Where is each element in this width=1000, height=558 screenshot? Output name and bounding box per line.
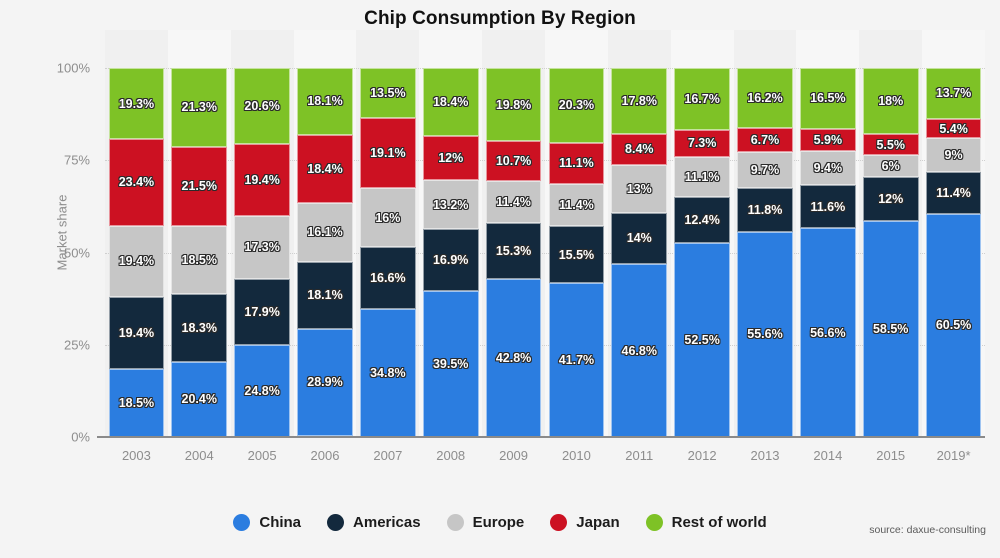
legend-label: Americas [353, 514, 421, 531]
legend-item-europe[interactable]: Europe [447, 514, 525, 531]
segment-value-label: 21.3% [182, 100, 217, 114]
x-axis-tick: 2005 [231, 448, 294, 463]
bar-stack[interactable]: 21.3%21.5%18.5%18.3%20.4% [171, 68, 227, 437]
bar-segment-europe[interactable]: 9.7% [737, 152, 793, 188]
segment-value-label: 60.5% [936, 318, 971, 332]
segment-value-label: 8.4% [625, 142, 654, 156]
x-axis-tick: 2013 [734, 448, 797, 463]
bar-segment-europe[interactable]: 9.4% [800, 151, 856, 186]
segment-value-label: 18.5% [182, 253, 217, 267]
bar-segment-europe[interactable]: 17.3% [234, 216, 290, 280]
legend-item-japan[interactable]: Japan [550, 514, 619, 531]
bar-stack[interactable]: 18.4%12%13.2%16.9%39.5% [423, 68, 479, 437]
bar-segment-americas[interactable]: 11.4% [926, 172, 982, 214]
bar-segment-americas[interactable]: 16.9% [423, 229, 479, 291]
segment-value-label: 13.5% [370, 86, 405, 100]
segment-value-label: 11.8% [748, 203, 783, 217]
bar-segment-japan[interactable]: 5.5% [863, 134, 919, 154]
bar-segment-rest-of-world[interactable]: 13.5% [360, 68, 416, 118]
segment-value-label: 16.2% [747, 91, 782, 105]
segment-value-label: 18.4% [433, 95, 468, 109]
bar-segment-rest-of-world[interactable]: 17.8% [611, 68, 667, 134]
bar-stack[interactable]: 16.5%5.9%9.4%11.6%56.6% [800, 68, 856, 437]
bar-segment-americas[interactable]: 11.6% [800, 185, 856, 228]
bar-segment-americas[interactable]: 17.9% [234, 279, 290, 345]
segment-value-label: 5.9% [814, 133, 843, 147]
plot-area: 19.3%23.4%19.4%19.4%18.5%21.3%21.5%18.5%… [105, 68, 985, 437]
bar-stack[interactable]: 16.7%7.3%11.1%12.4%52.5% [674, 68, 730, 437]
bar-segment-japan[interactable]: 7.3% [674, 130, 730, 157]
bar-stack[interactable]: 13.5%19.1%16%16.6%34.8% [360, 68, 416, 437]
bar-segment-europe[interactable]: 19.4% [109, 226, 165, 298]
segment-value-label: 5.4% [939, 122, 968, 136]
segment-value-label: 9% [945, 148, 963, 162]
segment-value-label: 10.7% [496, 154, 531, 168]
segment-value-label: 55.6% [747, 327, 782, 341]
segment-value-label: 6% [882, 159, 900, 173]
segment-value-label: 13.2% [433, 198, 468, 212]
bar-segment-japan[interactable]: 21.5% [171, 147, 227, 226]
bar-segment-rest-of-world[interactable]: 21.3% [171, 68, 227, 147]
bar-segment-japan[interactable]: 5.4% [926, 119, 982, 139]
bar-segment-japan[interactable]: 18.4% [297, 135, 353, 203]
legend-label: Europe [473, 514, 525, 531]
segment-value-label: 13% [627, 182, 652, 196]
bar-segment-china[interactable]: 20.4% [171, 362, 227, 437]
segment-value-label: 5.5% [876, 138, 905, 152]
x-axis-tick: 2007 [356, 448, 419, 463]
segment-value-label: 15.5% [559, 248, 594, 262]
bar-segment-rest-of-world[interactable]: 20.3% [549, 68, 605, 143]
segment-value-label: 9.7% [751, 163, 780, 177]
segment-value-label: 12% [438, 151, 463, 165]
bar-segment-europe[interactable]: 16.1% [297, 203, 353, 262]
segment-value-label: 34.8% [370, 366, 405, 380]
x-axis-tick: 2014 [796, 448, 859, 463]
legend-item-americas[interactable]: Americas [327, 514, 421, 531]
segment-value-label: 18.3% [182, 321, 217, 335]
segment-value-label: 21.5% [182, 179, 217, 193]
x-axis-tick: 2011 [608, 448, 671, 463]
bar-segment-japan[interactable]: 23.4% [109, 139, 165, 225]
legend-color-swatch [550, 514, 567, 531]
bar-segment-americas[interactable]: 18.3% [171, 294, 227, 362]
bar-segment-rest-of-world[interactable]: 16.7% [674, 68, 730, 130]
bar-segment-americas[interactable]: 12% [863, 177, 919, 221]
bar-segment-rest-of-world[interactable]: 20.6% [234, 68, 290, 144]
segment-value-label: 24.8% [244, 384, 279, 398]
segment-value-label: 19.8% [496, 98, 531, 112]
x-axis-tick: 2003 [105, 448, 168, 463]
legend-label: Japan [576, 514, 619, 531]
bar-stack[interactable]: 13.7%5.4%9%11.4%60.5% [926, 68, 982, 437]
segment-value-label: 19.3% [119, 97, 154, 111]
bar-segment-china[interactable]: 55.6% [737, 232, 793, 437]
bar-segment-europe[interactable]: 9% [926, 138, 982, 171]
bar-stack[interactable]: 20.3%11.1%11.4%15.5%41.7% [549, 68, 605, 437]
segment-value-label: 17.3% [244, 240, 279, 254]
segment-value-label: 20.3% [559, 98, 594, 112]
segment-value-label: 46.8% [622, 344, 657, 358]
bar-segment-japan[interactable]: 8.4% [611, 134, 667, 165]
bar-segment-europe[interactable]: 11.1% [674, 157, 730, 198]
x-axis-tick: 2004 [168, 448, 231, 463]
segment-value-label: 13.7% [936, 86, 971, 100]
legend-item-rest-of-world[interactable]: Rest of world [646, 514, 767, 531]
segment-value-label: 16.9% [433, 253, 468, 267]
segment-value-label: 17.9% [244, 305, 279, 319]
segment-value-label: 18.1% [307, 288, 342, 302]
x-axis-tick: 2010 [545, 448, 608, 463]
bar-segment-americas[interactable]: 16.6% [360, 247, 416, 308]
bar-segment-americas[interactable]: 14% [611, 213, 667, 265]
chart-container: Chip Consumption By Region Market share … [0, 0, 1000, 558]
segment-value-label: 17.8% [622, 94, 657, 108]
segment-value-label: 12% [878, 192, 903, 206]
bar-segment-europe[interactable]: 13% [611, 165, 667, 213]
bar-segment-americas[interactable]: 15.5% [549, 226, 605, 283]
bars-layer: 19.3%23.4%19.4%19.4%18.5%21.3%21.5%18.5%… [105, 68, 985, 437]
bar-stack[interactable]: 18%5.5%6%12%58.5% [863, 68, 919, 437]
segment-value-label: 19.4% [119, 254, 154, 268]
segment-value-label: 6.7% [751, 133, 780, 147]
legend-color-swatch [233, 514, 250, 531]
bar-segment-china[interactable]: 60.5% [926, 214, 982, 437]
bar-segment-europe[interactable]: 11.4% [549, 184, 605, 226]
bar-segment-americas[interactable]: 19.4% [109, 297, 165, 369]
legend-item-china[interactable]: China [233, 514, 301, 531]
bar-segment-china[interactable]: 18.5% [109, 369, 165, 437]
y-axis-tick: 50% [30, 245, 90, 260]
legend-label: Rest of world [672, 514, 767, 531]
bar-segment-rest-of-world[interactable]: 19.8% [486, 68, 542, 141]
bar-segment-europe[interactable]: 18.5% [171, 226, 227, 294]
segment-value-label: 16% [375, 211, 400, 225]
y-axis-label: Market share [55, 153, 70, 313]
segment-value-label: 19.4% [244, 173, 279, 187]
segment-value-label: 18% [878, 94, 903, 108]
bar-segment-rest-of-world[interactable]: 19.3% [109, 68, 165, 139]
segment-value-label: 19.4% [119, 326, 154, 340]
bar-segment-japan[interactable]: 19.1% [360, 118, 416, 188]
x-axis-tick: 2006 [294, 448, 357, 463]
segment-value-label: 39.5% [433, 357, 468, 371]
bar-stack[interactable]: 20.6%19.4%17.3%17.9%24.8% [234, 68, 290, 437]
segment-value-label: 12.4% [684, 213, 719, 227]
segment-value-label: 58.5% [873, 322, 908, 336]
bar-stack[interactable]: 19.3%23.4%19.4%19.4%18.5% [109, 68, 165, 437]
bar-segment-china[interactable]: 42.8% [486, 279, 542, 437]
bar-segment-europe[interactable]: 13.2% [423, 180, 479, 229]
axis-baseline [97, 436, 985, 438]
segment-value-label: 20.6% [244, 99, 279, 113]
bar-segment-europe[interactable]: 11.4% [486, 181, 542, 223]
bar-segment-china[interactable]: 24.8% [234, 345, 290, 437]
bar-segment-rest-of-world[interactable]: 18.1% [297, 68, 353, 135]
segment-value-label: 52.5% [684, 333, 719, 347]
segment-value-label: 9.4% [814, 161, 843, 175]
segment-value-label: 41.7% [559, 353, 594, 367]
y-axis-tick: 75% [30, 153, 90, 168]
chart-title: Chip Consumption By Region [0, 8, 1000, 30]
segment-value-label: 19.1% [370, 146, 405, 160]
bar-segment-americas[interactable]: 18.1% [297, 262, 353, 329]
bar-segment-china[interactable]: 28.9% [297, 329, 353, 436]
segment-value-label: 20.4% [182, 392, 217, 406]
x-axis-tick: 2009 [482, 448, 545, 463]
x-axis-tick: 2015 [859, 448, 922, 463]
bar-segment-japan[interactable]: 12% [423, 136, 479, 180]
bar-segment-china[interactable]: 56.6% [800, 228, 856, 437]
bar-segment-americas[interactable]: 11.8% [737, 188, 793, 232]
bar-segment-japan[interactable]: 6.7% [737, 128, 793, 153]
bar-segment-americas[interactable]: 12.4% [674, 197, 730, 243]
segment-value-label: 56.6% [810, 326, 845, 340]
segment-value-label: 18.5% [119, 396, 154, 410]
bar-segment-europe[interactable]: 6% [863, 155, 919, 177]
legend-color-swatch [447, 514, 464, 531]
segment-value-label: 14% [627, 231, 652, 245]
segment-value-label: 11.4% [936, 186, 971, 200]
bar-stack[interactable]: 16.2%6.7%9.7%11.8%55.6% [737, 68, 793, 437]
legend-label: China [259, 514, 301, 531]
bar-segment-china[interactable]: 34.8% [360, 309, 416, 437]
segment-value-label: 15.3% [496, 244, 531, 258]
segment-value-label: 18.4% [307, 162, 342, 176]
segment-value-label: 16.5% [810, 91, 845, 105]
segment-value-label: 28.9% [307, 375, 342, 389]
segment-value-label: 7.3% [688, 136, 717, 150]
segment-value-label: 11.1% [685, 170, 720, 184]
segment-value-label: 42.8% [496, 351, 531, 365]
segment-value-label: 11.1% [559, 156, 594, 170]
bar-stack[interactable]: 17.8%8.4%13%14%46.8% [611, 68, 667, 437]
bar-stack[interactable]: 19.8%10.7%11.4%15.3%42.8% [486, 68, 542, 437]
y-axis-tick: 25% [30, 337, 90, 352]
segment-value-label: 18.1% [307, 94, 342, 108]
bar-segment-japan[interactable]: 10.7% [486, 141, 542, 180]
legend-color-swatch [327, 514, 344, 531]
bar-segment-japan[interactable]: 19.4% [234, 144, 290, 216]
segment-value-label: 23.4% [119, 175, 154, 189]
bar-segment-japan[interactable]: 11.1% [549, 143, 605, 184]
bar-segment-china[interactable]: 58.5% [863, 221, 919, 437]
bar-segment-rest-of-world[interactable]: 18.4% [423, 68, 479, 136]
x-axis-tick: 2008 [419, 448, 482, 463]
bar-segment-japan[interactable]: 5.9% [800, 129, 856, 151]
bar-segment-rest-of-world[interactable]: 13.7% [926, 68, 982, 119]
y-axis-tick: 100% [30, 61, 90, 76]
bar-segment-rest-of-world[interactable]: 16.2% [737, 68, 793, 128]
bar-stack[interactable]: 18.1%18.4%16.1%18.1%28.9% [297, 68, 353, 437]
x-axis-tick: 2012 [671, 448, 734, 463]
bar-segment-china[interactable]: 52.5% [674, 243, 730, 437]
bar-segment-china[interactable]: 41.7% [549, 283, 605, 437]
bar-segment-europe[interactable]: 16% [360, 188, 416, 247]
legend-color-swatch [646, 514, 663, 531]
segment-value-label: 16.1% [307, 225, 342, 239]
segment-value-label: 16.7% [684, 92, 719, 106]
chart-legend: ChinaAmericasEuropeJapanRest of world [0, 514, 1000, 531]
segment-value-label: 11.6% [810, 200, 845, 214]
source-note: source: daxue-consulting [869, 524, 986, 536]
segment-value-label: 11.4% [559, 198, 594, 212]
bar-segment-americas[interactable]: 15.3% [486, 223, 542, 279]
bar-segment-rest-of-world[interactable]: 18% [863, 68, 919, 134]
x-axis-tick: 2019* [922, 448, 985, 463]
bar-segment-china[interactable]: 39.5% [423, 291, 479, 437]
segment-value-label: 16.6% [370, 271, 405, 285]
bar-segment-china[interactable]: 46.8% [611, 264, 667, 437]
segment-value-label: 11.4% [496, 195, 531, 209]
y-axis-tick: 0% [30, 430, 90, 445]
bar-segment-rest-of-world[interactable]: 16.5% [800, 68, 856, 129]
